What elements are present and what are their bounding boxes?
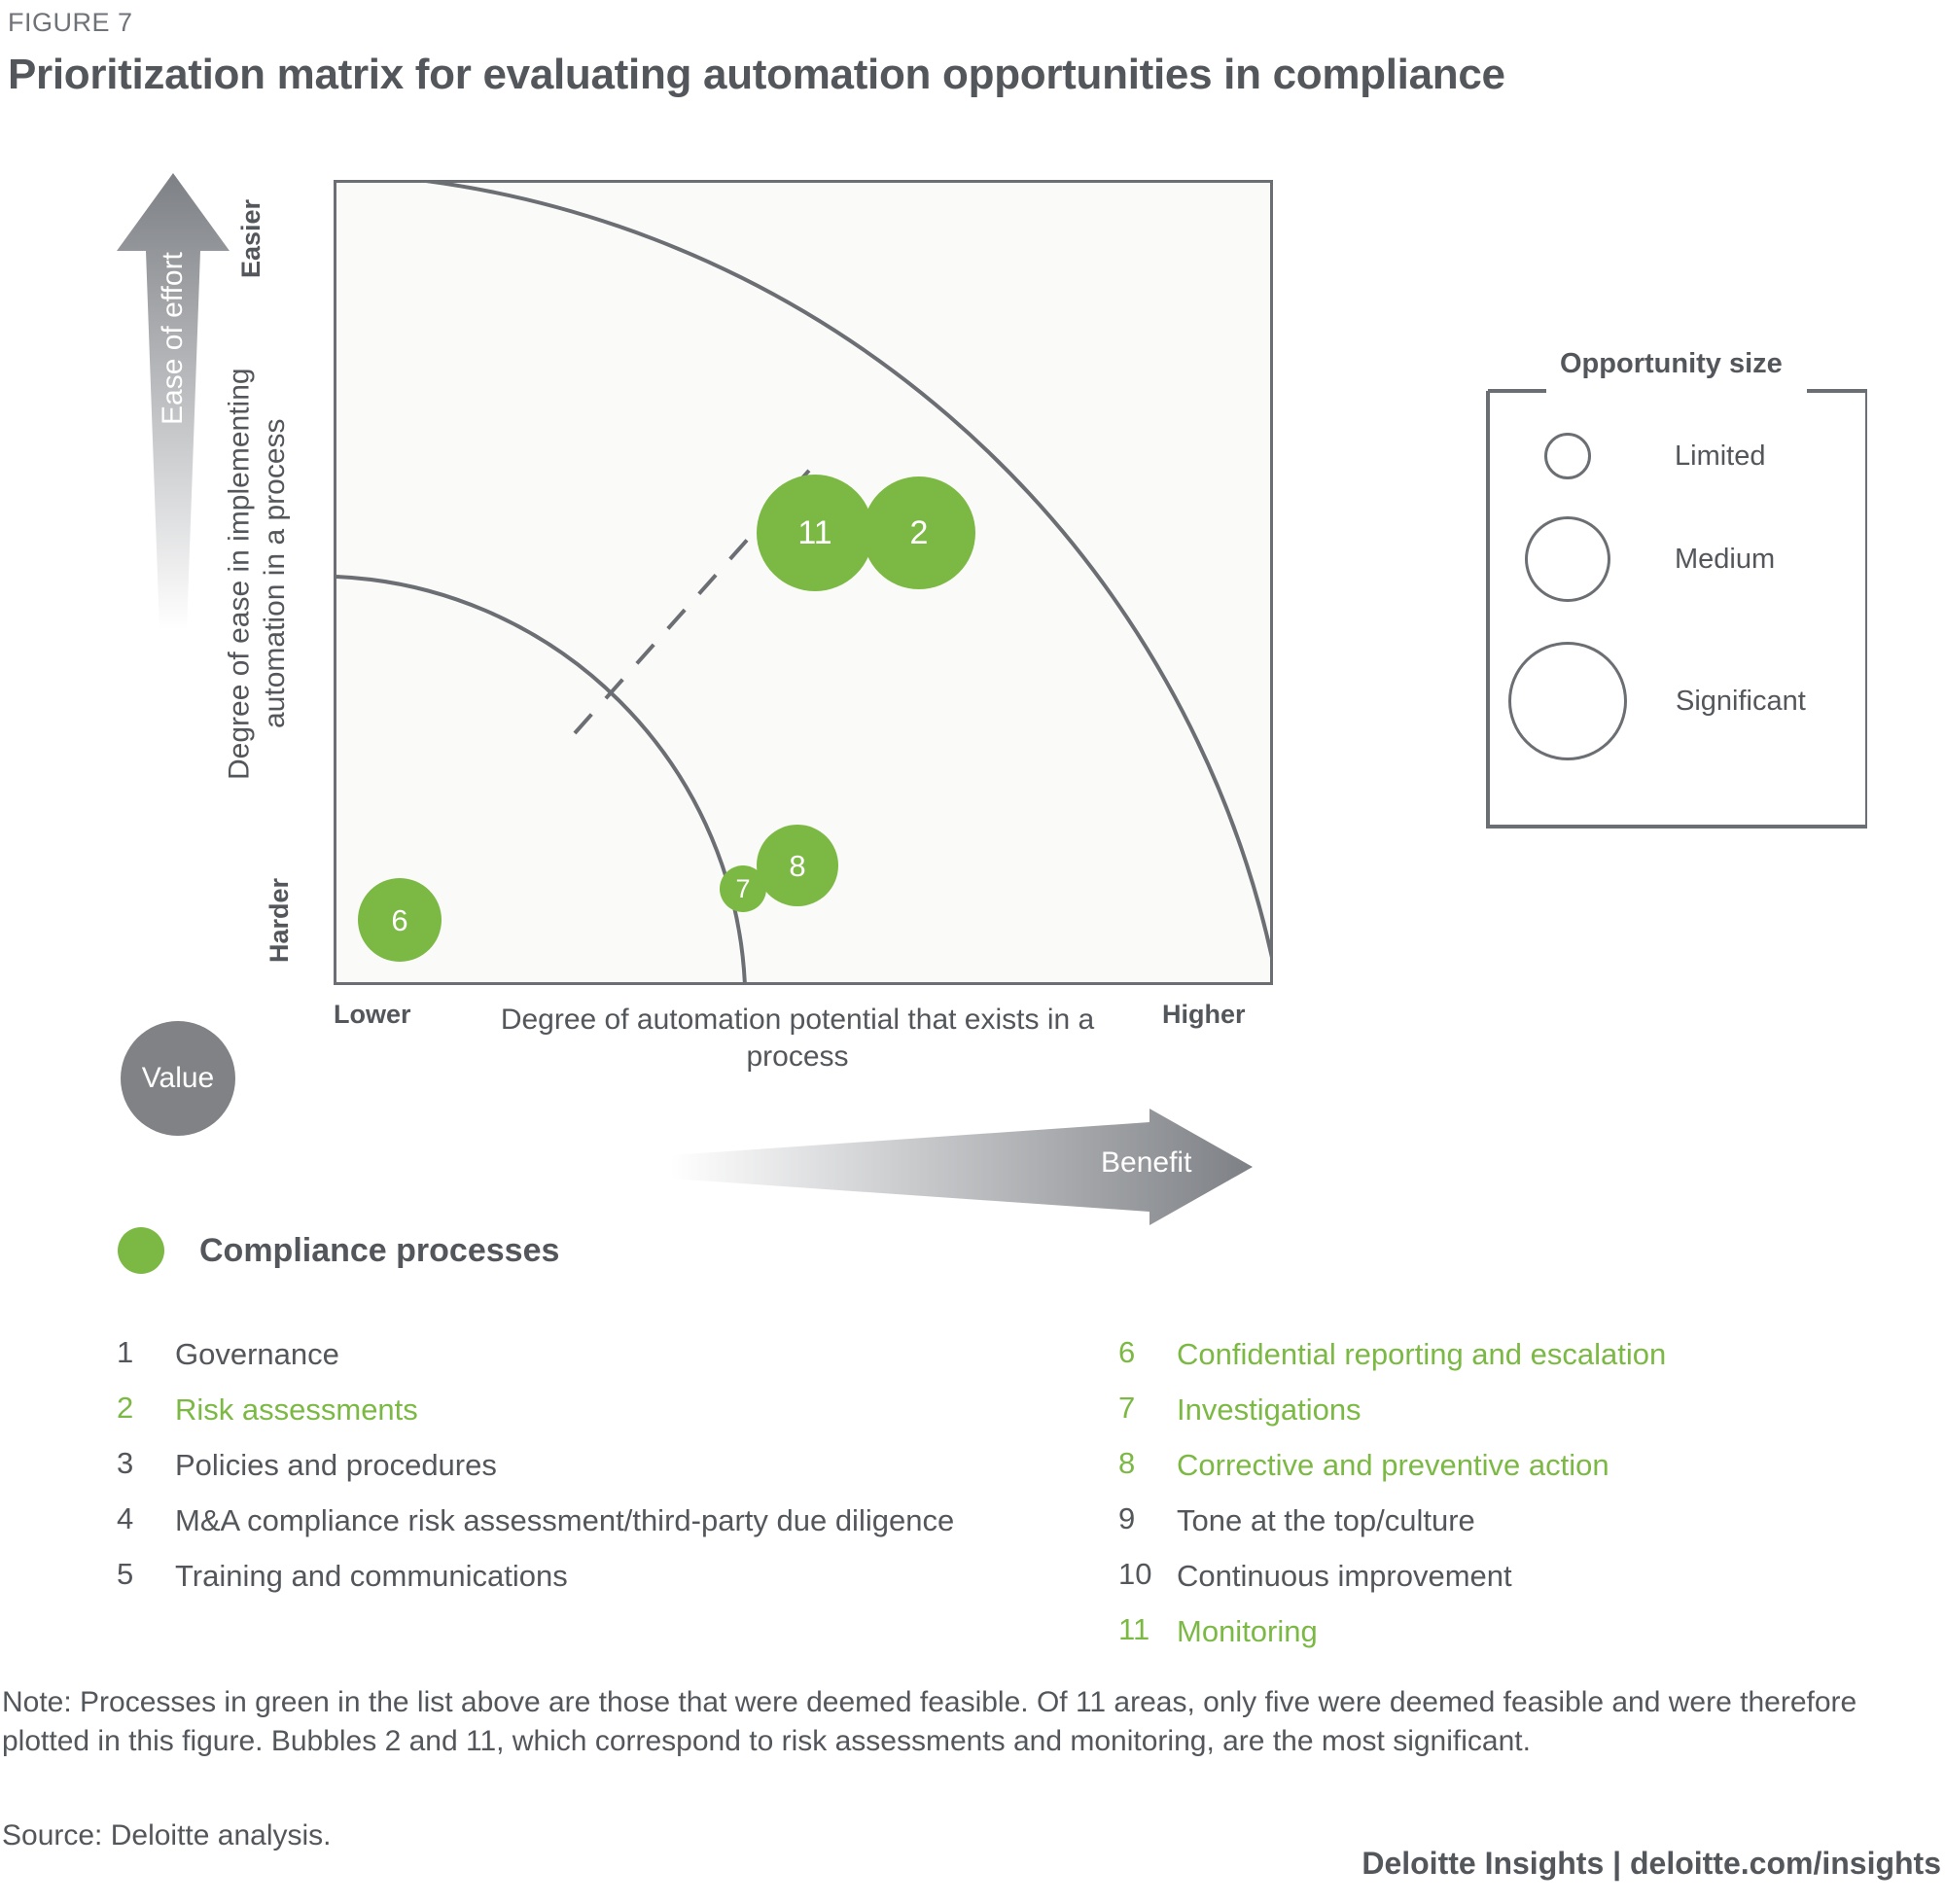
circle-significant-icon: [1508, 642, 1627, 760]
figure-note: Note: Processes in green in the list abo…: [2, 1683, 1937, 1760]
axis-label-harder: Harder: [236, 856, 295, 985]
process-item: 5Training and communications: [117, 1559, 992, 1593]
process-number: 10: [1118, 1559, 1177, 1593]
bubble-11[interactable]: 11: [757, 475, 873, 591]
opportunity-legend-item-significant: Significant: [1508, 642, 1806, 760]
process-number: 11: [1118, 1614, 1177, 1648]
value-circle: Value: [121, 1021, 235, 1136]
process-name: Training and communications: [175, 1559, 992, 1593]
figure-label: FIGURE 7: [8, 8, 133, 38]
process-item: 6Confidential reporting and escalation: [1118, 1337, 1896, 1371]
process-item: 8Corrective and preventive action: [1118, 1448, 1896, 1482]
process-name: Policies and procedures: [175, 1448, 992, 1482]
process-item: 9Tone at the top/culture: [1118, 1503, 1896, 1537]
ease-of-effort-arrow: [115, 173, 231, 640]
process-number: 3: [117, 1448, 175, 1482]
axis-label-easier: Easier: [236, 180, 295, 297]
process-name: Corrective and preventive action: [1177, 1448, 1896, 1482]
process-name: M&A compliance risk assessment/third-par…: [175, 1503, 992, 1537]
process-list-right: 6Confidential reporting and escalation7I…: [1118, 1337, 1896, 1670]
process-item: 11Monitoring: [1118, 1614, 1896, 1648]
opportunity-legend-item-limited: Limited: [1544, 433, 1766, 479]
bubble-6[interactable]: 6: [358, 878, 442, 962]
figure-source: Source: Deloitte analysis.: [2, 1819, 332, 1852]
process-number: 8: [1118, 1448, 1177, 1482]
axis-label-higher: Higher: [1162, 1000, 1246, 1030]
process-number: 6: [1118, 1337, 1177, 1371]
process-item: 10Continuous improvement: [1118, 1559, 1896, 1593]
bubble-2[interactable]: 2: [863, 476, 975, 589]
process-name: Confidential reporting and escalation: [1177, 1337, 1896, 1371]
process-name: Risk assessments: [175, 1393, 992, 1427]
page-title: Prioritization matrix for evaluating aut…: [8, 51, 1505, 99]
opportunity-size-title: Opportunity size: [1544, 348, 1798, 380]
bubble-7[interactable]: 7: [720, 865, 766, 912]
green-dot-icon: [118, 1227, 164, 1274]
plot-area: 11 2 8 7 6: [334, 180, 1273, 985]
process-item: 2Risk assessments: [117, 1393, 992, 1427]
process-list-left: 1Governance2Risk assessments3Policies an…: [117, 1337, 992, 1614]
brand-footer: Deloitte Insights | deloitte.com/insight…: [1361, 1846, 1941, 1882]
opportunity-legend-label: Medium: [1675, 544, 1775, 576]
figure-root: FIGURE 7 Prioritization matrix for evalu…: [0, 0, 1945, 1904]
process-item: 3Policies and procedures: [117, 1448, 992, 1482]
process-item: 4M&A compliance risk assessment/third-pa…: [117, 1503, 992, 1537]
opportunity-legend-label: Limited: [1675, 441, 1766, 473]
process-name: Governance: [175, 1337, 992, 1371]
process-number: 5: [117, 1559, 175, 1593]
process-number: 1: [117, 1337, 175, 1371]
process-number: 7: [1118, 1393, 1177, 1427]
circle-medium-icon: [1525, 516, 1610, 602]
process-name: Investigations: [1177, 1393, 1896, 1427]
process-number: 9: [1118, 1503, 1177, 1537]
axis-label-lower: Lower: [334, 1000, 411, 1030]
compliance-processes-legend: Compliance processes: [118, 1227, 559, 1274]
process-item: 1Governance: [117, 1337, 992, 1371]
benefit-label: Benefit: [1101, 1146, 1191, 1180]
circle-limited-icon: [1544, 433, 1591, 479]
y-axis-title: Degree of ease in implementing automatio…: [219, 301, 297, 846]
x-axis-title: Degree of automation potential that exis…: [457, 1002, 1138, 1075]
process-number: 2: [117, 1393, 175, 1427]
process-name: Monitoring: [1177, 1614, 1896, 1648]
process-name: Continuous improvement: [1177, 1559, 1896, 1593]
process-number: 4: [117, 1503, 175, 1537]
process-item: 7Investigations: [1118, 1393, 1896, 1427]
opportunity-legend-item-medium: Medium: [1525, 516, 1775, 602]
bubble-8[interactable]: 8: [757, 825, 838, 906]
process-name: Tone at the top/culture: [1177, 1503, 1896, 1537]
compliance-processes-label: Compliance processes: [199, 1232, 559, 1270]
opportunity-legend-label: Significant: [1676, 686, 1806, 718]
